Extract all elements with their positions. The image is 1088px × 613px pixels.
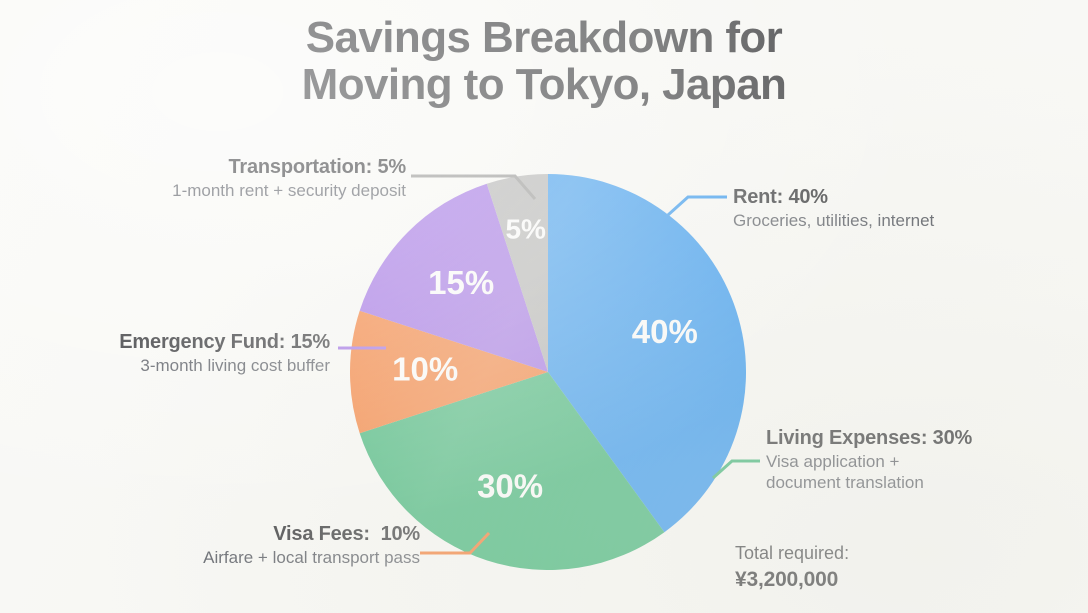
callout-visa-fees-title: Visa Fees: 10% bbox=[130, 523, 420, 546]
page-title-line-2: Moving to Tokyo, Japan bbox=[0, 61, 1088, 108]
callout-rent-title: Rent: 40% bbox=[733, 186, 1033, 209]
callout-living-expenses[interactable]: Living Expenses: 30% Visa application + … bbox=[766, 427, 1026, 493]
pie-slice-label-emergency-fund: 15% bbox=[428, 264, 494, 301]
pie-chart-svg: 40%30%10%15%5% bbox=[350, 174, 746, 570]
pie-slice-label-visa-fees: 10% bbox=[392, 351, 458, 388]
callout-visa-fees[interactable]: Visa Fees: 10% Airfare + local transport… bbox=[130, 523, 420, 569]
callout-rent[interactable]: Rent: 40% Groceries, utilities, internet bbox=[733, 186, 1033, 232]
callout-transportation-subtitle: 1-month rent + security deposit bbox=[66, 181, 406, 202]
total-required-block: Total required: ¥3,200,000 bbox=[735, 542, 849, 593]
pie-slice-label-rent: 40% bbox=[632, 313, 698, 350]
callout-transportation-title: Transportation: 5% bbox=[66, 156, 406, 179]
callout-visa-fees-subtitle: Airfare + local transport pass bbox=[130, 548, 420, 569]
total-required-amount: ¥3,200,000 bbox=[735, 566, 849, 593]
callout-emergency-fund[interactable]: Emergency Fund: 15% 3-month living cost … bbox=[20, 331, 330, 377]
pie-slice-label-living-expenses: 30% bbox=[477, 468, 543, 505]
callout-emergency-fund-title: Emergency Fund: 15% bbox=[20, 331, 330, 354]
pie-slice-label-transportation: 5% bbox=[505, 214, 546, 245]
callout-living-expenses-title: Living Expenses: 30% bbox=[766, 427, 1026, 450]
callout-living-expenses-subtitle: Visa application + document translation bbox=[766, 452, 1026, 493]
page-title: Savings Breakdown for Moving to Tokyo, J… bbox=[0, 14, 1088, 108]
total-required-label: Total required: bbox=[735, 542, 849, 566]
callout-emergency-fund-subtitle: 3-month living cost buffer bbox=[20, 356, 330, 377]
pie-chart: 40%30%10%15%5% bbox=[350, 174, 746, 570]
callout-rent-subtitle: Groceries, utilities, internet bbox=[733, 211, 1033, 232]
callout-transportation[interactable]: Transportation: 5% 1-month rent + securi… bbox=[66, 156, 406, 202]
page-title-line-1: Savings Breakdown for bbox=[0, 14, 1088, 61]
